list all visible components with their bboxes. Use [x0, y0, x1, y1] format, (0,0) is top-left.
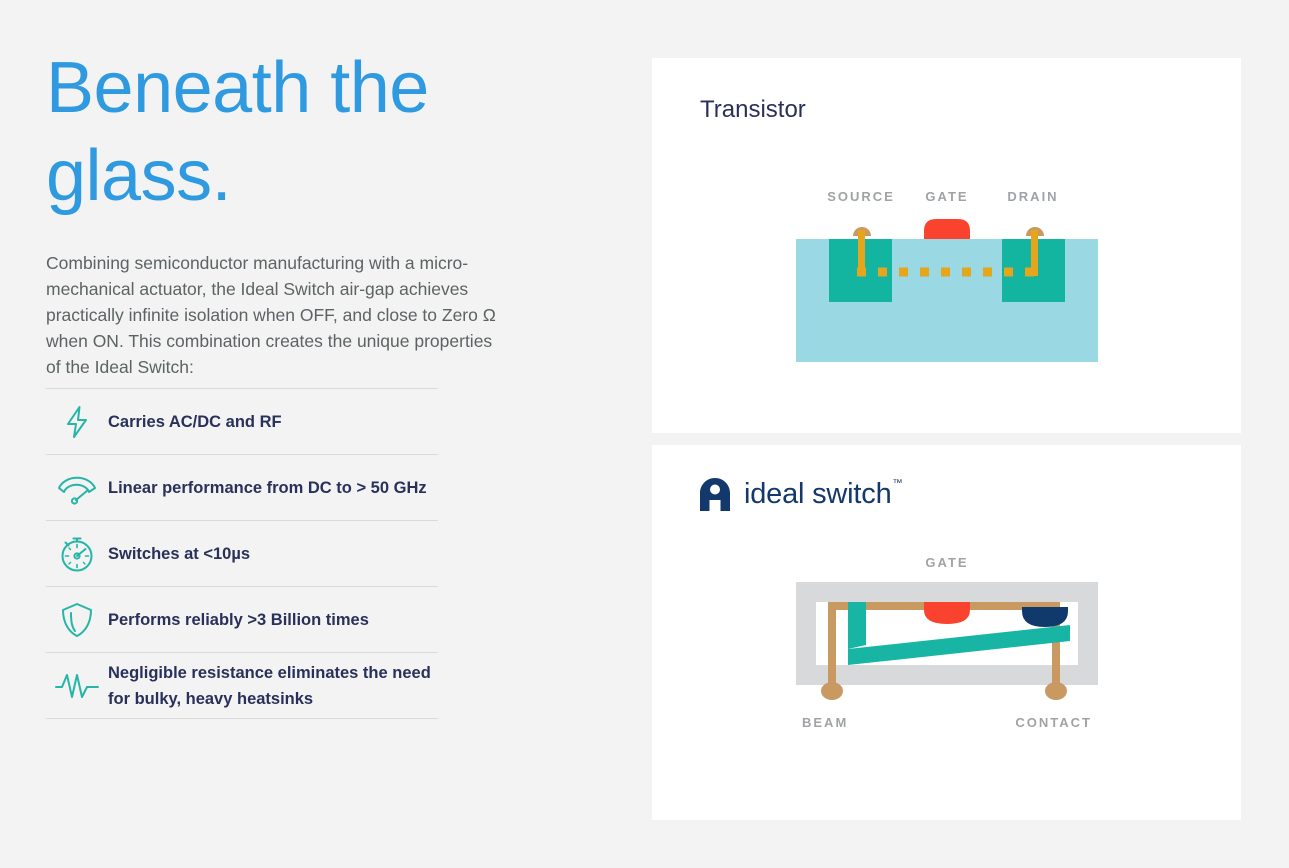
switch-label-beam: BEAM: [802, 715, 848, 730]
ideal-switch-diagram: GATE BEAM CONTACT: [652, 545, 1241, 785]
headline-line-1: Beneath the: [46, 52, 516, 124]
transistor-drain-via: [1031, 230, 1038, 276]
list-item: Switches at <10µs: [46, 521, 438, 587]
list-item: Linear performance from DC to > 50 GHz: [46, 455, 438, 521]
hero-section: Beneath the glass. Combining semiconduct…: [46, 52, 516, 380]
feature-label: Switches at <10µs: [108, 541, 254, 567]
switch-label-gate: GATE: [925, 555, 968, 570]
trademark-symbol: ™: [893, 478, 903, 489]
list-item: Carries AC/DC and RF: [46, 389, 438, 455]
switch-beam-post: [828, 602, 836, 688]
stopwatch-icon: [46, 534, 108, 574]
card-title-transistor: Transistor: [700, 96, 806, 124]
gauge-icon: [46, 471, 108, 505]
transistor-label-source: SOURCE: [827, 189, 895, 204]
transistor-label-drain: DRAIN: [1007, 189, 1058, 204]
ideal-switch-logo-icon: [700, 478, 730, 511]
transistor-diagram: SOURCE GATE DRAIN: [652, 178, 1241, 378]
intro-paragraph: Combining semiconductor manufacturing wi…: [46, 250, 501, 380]
waveform-icon: [46, 671, 108, 701]
ideal-switch-wordmark: ideal switch™: [744, 478, 901, 511]
switch-beam-anchor: [848, 602, 866, 649]
transistor-card: Transistor SOURCE GATE DRAIN: [652, 58, 1241, 433]
switch-gate-pad: [924, 602, 970, 624]
shield-icon: [46, 601, 108, 639]
lightning-bolt-icon: [46, 405, 108, 439]
feature-label: Carries AC/DC and RF: [108, 409, 286, 435]
feature-label: Linear performance from DC to > 50 GHz: [108, 475, 431, 501]
feature-label: Performs reliably >3 Billion times: [108, 607, 373, 633]
feature-label: Negligible resistance eliminates the nee…: [108, 660, 438, 712]
page-root: { "hero": { "headline_line1": "Beneath t…: [0, 0, 1289, 868]
switch-contact-foot: [1045, 682, 1067, 700]
ideal-switch-card: ideal switch™ GATE BEAM CONTACT: [652, 445, 1241, 820]
transistor-source-via: [858, 230, 865, 276]
wordmark-text: ideal switch: [744, 478, 892, 510]
ideal-switch-logo: ideal switch™: [700, 478, 901, 511]
transistor-gate-pad: [924, 219, 970, 239]
list-item: Negligible resistance eliminates the nee…: [46, 653, 438, 719]
page-title: Beneath the glass.: [46, 52, 516, 212]
feature-list: Carries AC/DC and RF Linear performance …: [46, 388, 438, 719]
transistor-label-gate: GATE: [925, 189, 968, 204]
switch-beam-foot: [821, 682, 843, 700]
headline-line-2: glass.: [46, 140, 516, 212]
list-item: Performs reliably >3 Billion times: [46, 587, 438, 653]
switch-label-contact: CONTACT: [1015, 715, 1092, 730]
